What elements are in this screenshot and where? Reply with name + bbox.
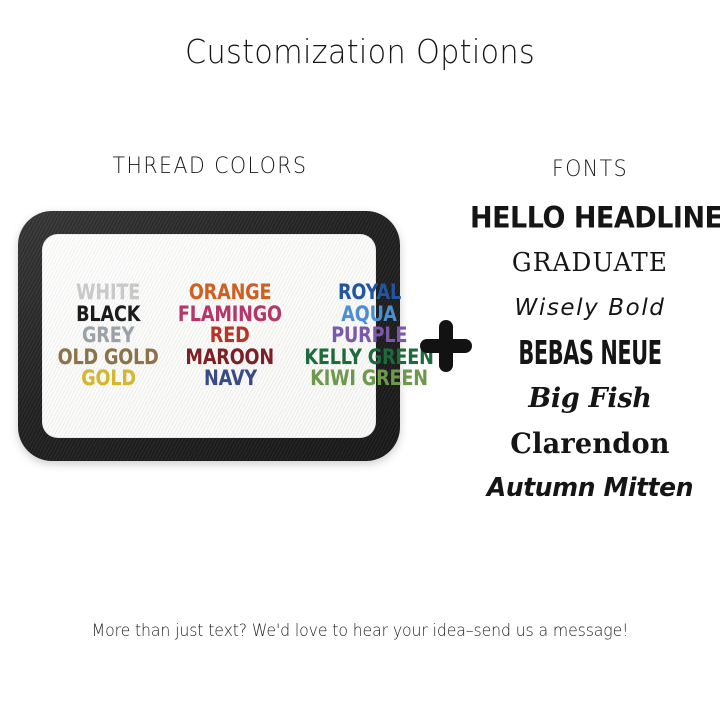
font-sample-bebas-neue: BEBAS NEUE <box>504 328 677 378</box>
thread-color-label: KIWI GREEN <box>310 368 428 389</box>
thread-color-label: GOLD <box>81 368 136 389</box>
thread-color-label: AQUA <box>341 304 396 325</box>
thread-color-column-1: WHITEBLACKGREYOLD GOLDGOLD <box>48 282 168 389</box>
thread-color-label: FLAMINGO <box>178 304 282 325</box>
font-sample-autumn-mitten: Autumn Mitten <box>475 466 705 511</box>
plus-icon-vertical-bar <box>439 320 453 372</box>
font-sample-hello-headline: HELLO HEADLINE <box>470 194 710 243</box>
thread-color-label: KELLY GREEN <box>304 347 433 368</box>
thread-color-label: MAROON <box>186 347 275 368</box>
fonts-header: FONTS <box>478 157 701 182</box>
patch-inner-face: WHITEBLACKGREYOLD GOLDGOLDORANGEFLAMINGO… <box>42 234 376 438</box>
thread-color-label: ORANGE <box>189 282 272 303</box>
thread-color-label: WHITE <box>76 282 140 303</box>
footer-note: More than just text? We'd love to hear y… <box>18 621 702 640</box>
font-sample-graduate: GRADUATE <box>476 241 704 286</box>
thread-color-label: NAVY <box>204 368 257 389</box>
font-sample-clarendon: Clarendon <box>474 421 707 466</box>
thread-colors-header: THREAD COLORS <box>43 154 378 179</box>
page-title: Customization Options <box>29 32 691 71</box>
thread-color-label: BLACK <box>76 304 140 325</box>
thread-color-label: GREY <box>82 325 134 346</box>
fonts-list: HELLO HEADLINEGRADUATEWisely BoldBEBAS N… <box>470 196 710 511</box>
thread-color-column-2: ORANGEFLAMINGOREDMAROONNAVY <box>168 282 292 389</box>
thread-color-label: PURPLE <box>331 325 407 346</box>
thread-color-label: OLD GOLD <box>58 347 159 368</box>
plus-icon <box>418 318 474 374</box>
thread-color-label: RED <box>210 325 250 346</box>
font-sample-big-fish: Big Fish <box>470 376 710 421</box>
thread-color-patch: WHITEBLACKGREYOLD GOLDGOLDORANGEFLAMINGO… <box>18 211 400 461</box>
font-sample-wisely-bold: Wisely Bold <box>470 286 710 331</box>
thread-color-label: ROYAL <box>338 282 401 303</box>
